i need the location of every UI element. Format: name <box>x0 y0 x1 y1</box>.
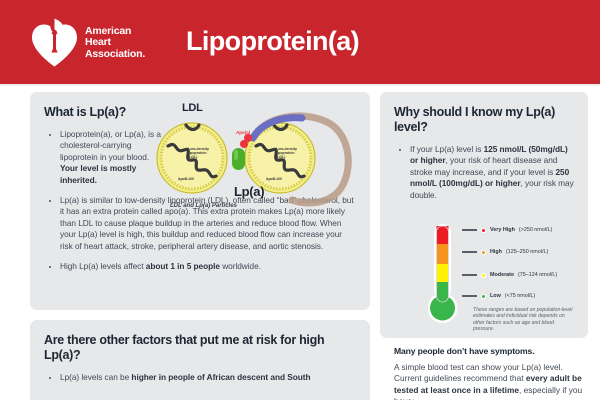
emphasis-text: Your level is mostly inherited. <box>60 163 136 184</box>
body-text: High Lp(a) levels affect <box>60 261 146 271</box>
legend-row-moderate: Moderate (75–124 nmol/L) <box>462 272 557 278</box>
list-item: If your Lp(a) level is 125 nmol/L (50mg/… <box>394 144 574 201</box>
legend-dot-low <box>481 294 486 299</box>
legend-connector <box>462 251 477 253</box>
legend-row-low: Low (<75 nmol/L) <box>462 293 535 299</box>
what-bullets-top: Lipoprotein(a), or Lp(a), is a cholester… <box>44 129 164 186</box>
risk-bullets: Lp(a) levels can be higher in people of … <box>44 372 356 383</box>
legend-dot-very-high <box>481 228 486 233</box>
section-title-why: Why should I know my Lp(a) level? <box>394 105 574 135</box>
legend-dot-high <box>481 250 486 255</box>
risk-level-thermometer: Very High (>250 nmol/L) High (125–250 nm… <box>428 222 578 334</box>
aha-logo: American Heart Association. <box>30 18 145 68</box>
header-divider <box>0 84 600 86</box>
emphasis-text: about 1 in 5 people <box>146 261 220 271</box>
aha-wordmark: American Heart Association. <box>85 26 145 61</box>
legend-connector <box>462 274 477 276</box>
emphasis-text: higher in people of African descent and … <box>131 372 310 382</box>
legend-range-high: (125–250 nmol/L) <box>506 249 548 255</box>
svg-text:Apo(a): Apo(a) <box>236 130 251 135</box>
card-symptoms: Many people don’t have symptoms. A simpl… <box>380 340 588 400</box>
thermometer-icon <box>428 222 462 334</box>
legend-range-very-high: (>250 nmol/L) <box>519 227 552 233</box>
legend-label-moderate: Moderate <box>490 272 514 278</box>
body-text: worldwide. <box>220 261 261 271</box>
list-item: High Lp(a) levels affect about 1 in 5 pe… <box>44 261 356 272</box>
legend-dot-moderate <box>481 273 486 278</box>
svg-text:(LDL): (LDL) <box>188 155 198 159</box>
diagram-label-lpa: Lp(a) <box>234 184 264 199</box>
thermometer-footnote: These ranges are based on population-lev… <box>473 307 576 333</box>
card-risk-factors: Are there other factors that put me at r… <box>30 320 370 400</box>
list-item: Lp(a) levels can be higher in people of … <box>44 372 356 383</box>
legend-label-low: Low <box>490 293 501 299</box>
body-text: Lipoprotein(a), or Lp(a), is a cholester… <box>60 129 161 162</box>
svg-text:(LDL): (LDL) <box>276 155 286 159</box>
section-title-risk: Are there other factors that put me at r… <box>44 333 356 363</box>
svg-text:ApoB-100: ApoB-100 <box>266 177 282 181</box>
why-bullets: If your Lp(a) level is 125 nmol/L (50mg/… <box>394 144 574 201</box>
legend-row-high: High (125–250 nmol/L) <box>462 249 548 255</box>
legend-range-low: (<75 nmol/L) <box>505 293 535 299</box>
infographic-page: American Heart Association. Lipoprotein(… <box>0 0 600 400</box>
symptoms-heading: Many people don’t have symptoms. <box>394 346 588 356</box>
body-text: Lp(a) levels can be <box>60 372 131 382</box>
lipoprotein-particle-diagram: LDL Lp(a) LDL and Lp(a) Particles <box>152 100 367 212</box>
heart-torch-icon <box>30 18 78 68</box>
legend-connector <box>462 295 477 297</box>
body-text: If your Lp(a) level is <box>410 144 484 154</box>
diagram-label-ldl: LDL <box>182 102 202 114</box>
page-header: American Heart Association. Lipoprotein(… <box>0 0 600 86</box>
diagram-caption: LDL and Lp(a) Particles <box>170 203 237 209</box>
legend-label-high: High <box>490 249 502 255</box>
legend-row-very-high: Very High (>250 nmol/L) <box>462 227 552 233</box>
org-line-3: Association. <box>85 49 145 61</box>
symptoms-body: A simple blood test can show your Lp(a) … <box>394 362 588 400</box>
legend-connector <box>462 229 477 231</box>
svg-text:ApoB-100: ApoB-100 <box>178 177 194 181</box>
legend-label-very-high: Very High <box>490 227 515 233</box>
list-item: Lipoprotein(a), or Lp(a), is a cholester… <box>44 129 164 186</box>
page-title: Lipoprotein(a) <box>186 26 359 57</box>
legend-range-moderate: (75–124 nmol/L) <box>518 272 557 278</box>
